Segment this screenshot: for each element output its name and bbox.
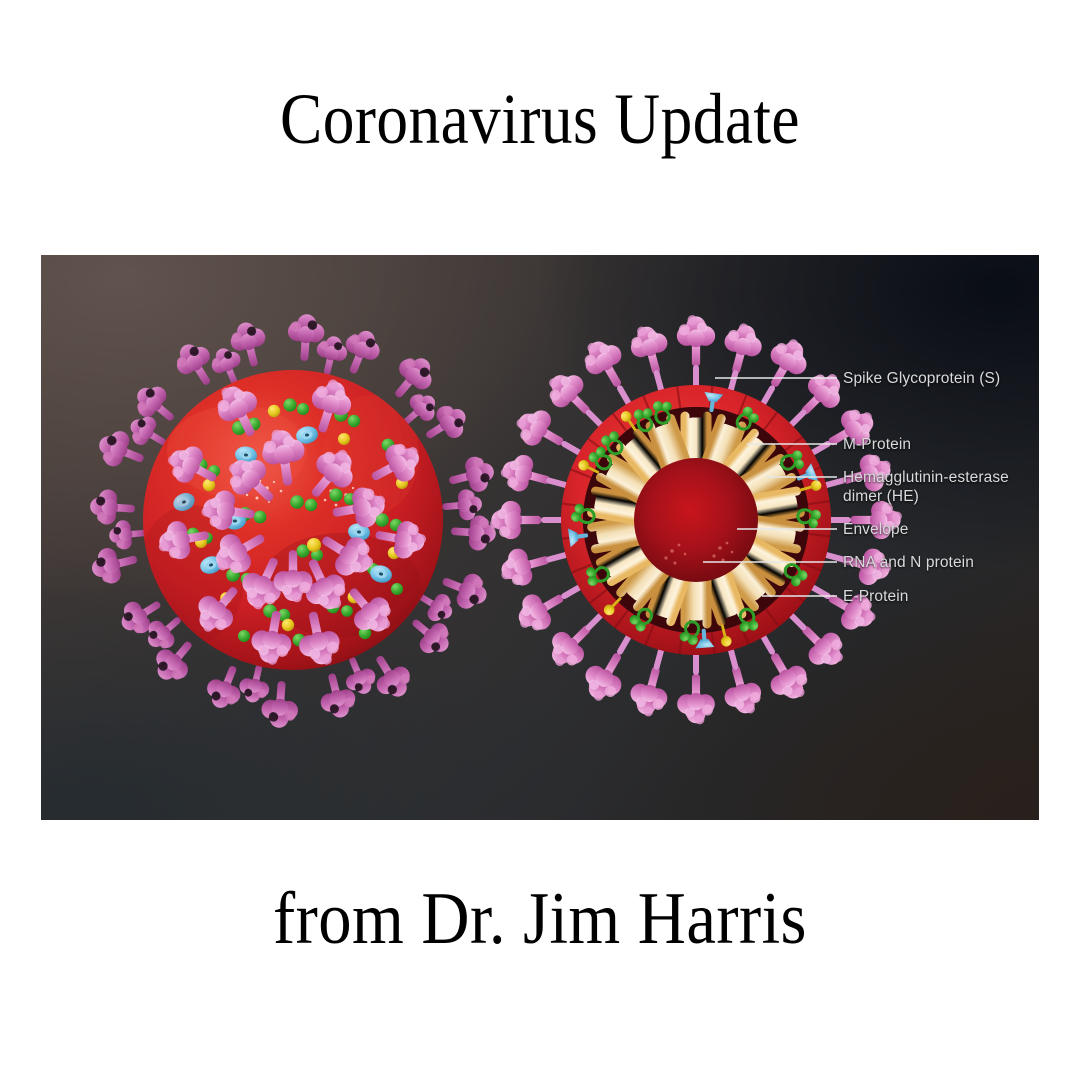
callout-label-rna-and-n-protein: RNA and N protein: [843, 553, 974, 572]
callout-label-envelope: Envelope: [843, 520, 908, 539]
callout-label-m-protein: M-Protein: [843, 435, 911, 454]
callout-label-spike-glycoprotein: Spike Glycoprotein (S): [843, 369, 1000, 388]
virus-particle-cross-section: [490, 315, 902, 724]
callout-label-hemagglutinin-esterase-dimer: Hemagglutinin-esterase dimer (HE): [843, 468, 1009, 506]
page-caption: from Dr. Jim Harris: [54, 875, 1026, 963]
callout-label-e-protein: E-Protein: [843, 587, 909, 606]
page-title: Coronavirus Update: [65, 76, 1015, 162]
coronavirus-figure-panel: Spike Glycoprotein (S) M-Protein Hemaggl…: [41, 255, 1039, 820]
virus-particle-intact: [88, 313, 498, 729]
virion-core: [634, 458, 758, 582]
